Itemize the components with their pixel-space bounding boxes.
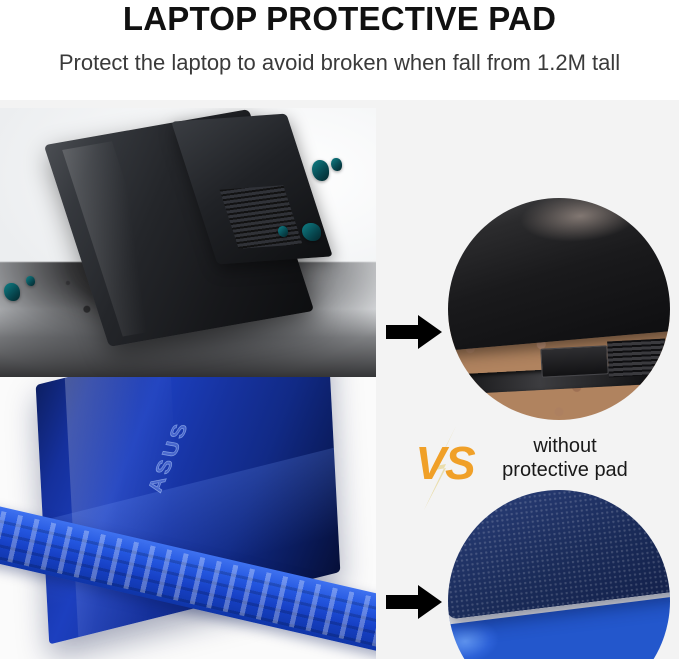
laptop-port-opening bbox=[541, 345, 609, 377]
caption-without-pad: without protective pad bbox=[460, 434, 670, 482]
page-subtitle: Protect the laptop to avoid broken when … bbox=[0, 50, 679, 76]
photo-laptop-on-pad: ASUS bbox=[0, 377, 376, 659]
header: LAPTOP PROTECTIVE PAD Protect the laptop… bbox=[0, 0, 679, 98]
arrow-right-icon-without bbox=[386, 314, 442, 350]
laptop-vent-grille bbox=[607, 339, 666, 377]
debris-shard bbox=[331, 158, 342, 171]
photo-broken-laptop-closeup bbox=[448, 198, 670, 420]
photo-protected-laptop-closeup bbox=[448, 490, 670, 659]
debris-shard bbox=[312, 160, 329, 181]
comparison-board: ASUS bbox=[0, 100, 679, 659]
debris-shard bbox=[26, 276, 35, 286]
caption-without-line2: protective pad bbox=[460, 458, 670, 482]
debris-shard bbox=[278, 226, 288, 237]
damaged-laptop-body bbox=[448, 198, 670, 351]
page-title: LAPTOP PROTECTIVE PAD bbox=[0, 2, 679, 36]
debris-shard bbox=[4, 283, 20, 301]
debris-shard bbox=[302, 223, 321, 241]
laptop-gloss-highlight bbox=[518, 198, 642, 247]
product-infographic: LAPTOP PROTECTIVE PAD Protect the laptop… bbox=[0, 0, 679, 659]
arrow-right-icon-with bbox=[386, 584, 442, 620]
photo-laptop-crash bbox=[0, 108, 376, 380]
caption-without-line1: without bbox=[460, 434, 670, 458]
